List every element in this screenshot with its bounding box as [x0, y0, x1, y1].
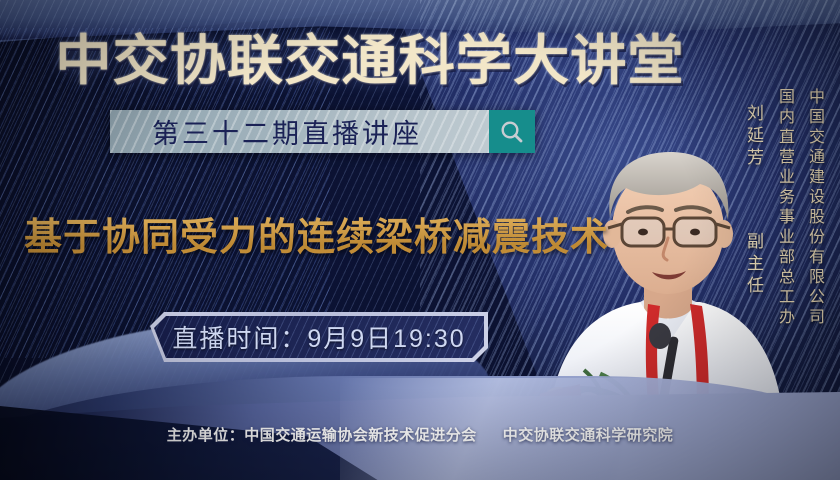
speaker-name: 刘延芳	[744, 104, 763, 170]
episode-label: 第三十二期直播讲座	[110, 110, 489, 153]
speaker-credits: 中国交通建设股份有限公司 国内直营业务事业部总工办 刘延芳 副主任	[741, 88, 826, 348]
speaker-identity: 刘延芳 副主任	[741, 88, 766, 298]
episode-banner: 第三十二期直播讲座	[110, 110, 535, 153]
organizer-name-primary: 中国交通运输协会新技术促进分会	[244, 427, 477, 444]
organizer-line: 主办单位：中国交通运输协会新技术促进分会中交协联交通科学研究院	[0, 424, 840, 445]
lecture-title: 基于协同受力的连续梁桥减震技术	[24, 206, 609, 261]
search-button[interactable]	[489, 110, 535, 153]
search-icon	[499, 119, 525, 145]
organizer-name-secondary: 中交协联交通科学研究院	[503, 427, 674, 444]
speaker-organization: 中国交通建设股份有限公司	[802, 88, 826, 328]
schedule-text: 直播时间：9月9日19:30	[172, 319, 465, 355]
page-title: 中交协联交通科学大讲堂	[0, 16, 755, 95]
schedule-badge: 直播时间：9月9日19:30	[150, 312, 488, 362]
speaker-role: 副主任	[744, 232, 763, 298]
webinar-poster: 中交协联交通科学大讲堂 第三十二期直播讲座 基于协同受力的连续梁桥减震技术 直播…	[0, 0, 840, 480]
organizer-prefix: 主办单位：	[167, 427, 245, 444]
speaker-department: 国内直营业务事业部总工办	[772, 88, 796, 328]
